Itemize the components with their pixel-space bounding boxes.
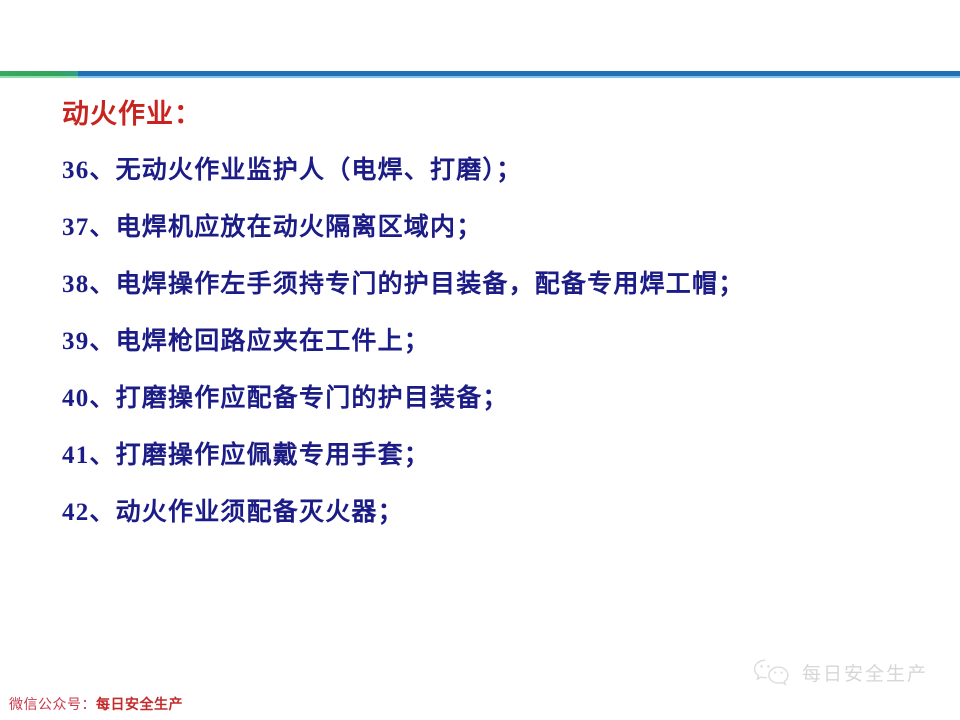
watermark-label: 每日安全生产 bbox=[802, 659, 928, 686]
rule-segment-green-highlight bbox=[0, 76, 80, 78]
header-divider-rule bbox=[0, 71, 960, 78]
footer-credit-label: 微信公众号： bbox=[9, 696, 96, 712]
list-item: 42、动火作业须配备灭火器； bbox=[62, 500, 942, 557]
footer-credit: 微信公众号：每日安全生产 bbox=[9, 694, 183, 714]
list-item: 41、打磨操作应佩戴专用手套； bbox=[62, 443, 942, 500]
watermark: 每日安全生产 bbox=[752, 656, 928, 688]
checklist: 36、无动火作业监护人（电焊、打磨）； 37、电焊机应放在动火隔离区域内； 38… bbox=[62, 158, 942, 557]
list-item: 37、电焊机应放在动火隔离区域内； bbox=[62, 215, 942, 272]
list-item: 36、无动火作业监护人（电焊、打磨）； bbox=[62, 158, 942, 215]
section-title: 动火作业： bbox=[62, 98, 202, 132]
list-item: 40、打磨操作应配备专门的护目装备； bbox=[62, 386, 942, 443]
wechat-icon bbox=[752, 656, 792, 688]
footer-credit-account: 每日安全生产 bbox=[96, 696, 183, 712]
rule-segment-blue-highlight bbox=[78, 76, 960, 78]
list-item: 38、电焊操作左手须持专门的护目装备，配备专用焊工帽； bbox=[62, 272, 942, 329]
slide-canvas: 动火作业： 36、无动火作业监护人（电焊、打磨）； 37、电焊机应放在动火隔离区… bbox=[0, 0, 960, 720]
list-item: 39、电焊枪回路应夹在工件上； bbox=[62, 329, 942, 386]
